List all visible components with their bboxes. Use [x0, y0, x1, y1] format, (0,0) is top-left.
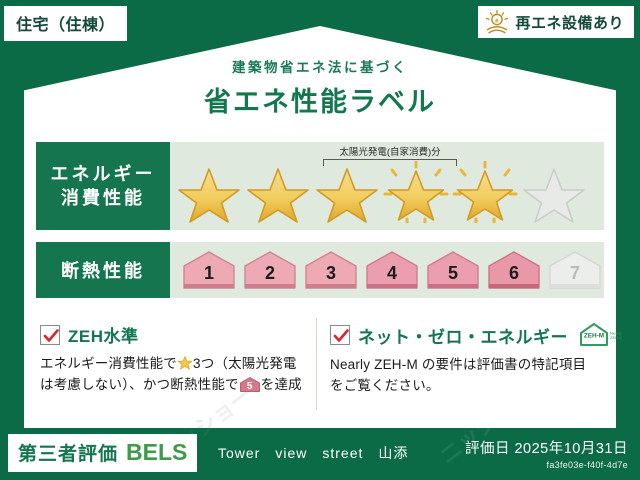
renewable-equipment-tag: e 再エネ設備あり — [478, 6, 634, 38]
energy-label-line2: 消費性能 — [61, 186, 145, 210]
red-check-icon — [330, 325, 350, 345]
criteria-zeh-standard: ZEH水準 エネルギー消費性能で3つ（太陽光発電は考慮しない）、かつ断熱性能で5… — [40, 322, 306, 396]
criteria-net-zero-energy: ネット・ゼロ・エネルギー ZEH-M Nearly ZEH-M Nearly Z… — [330, 322, 596, 397]
bels-en-label: BELS — [126, 439, 187, 466]
insulation-performance-row: 断熱性能 1 2 — [36, 242, 604, 298]
star-filled-solar — [452, 161, 518, 223]
star-icon — [177, 355, 193, 371]
insulation-badge-label: 7 — [546, 263, 604, 284]
criteria-description: Nearly ZEH-M の要件は評価書の特記項目をご覧ください。 — [330, 355, 596, 397]
star-rating — [170, 161, 587, 223]
renewable-label: 再エネ設備あり — [515, 12, 624, 33]
title-block: 建築物省エネ法に基づく 省エネ性能ラベル — [0, 56, 640, 119]
evaluation-info: 評価日 2025年10月31日 fa3fe03e-f40f-4d7e — [465, 437, 628, 470]
evaluation-date: 評価日 2025年10月31日 — [465, 437, 628, 458]
star-empty — [521, 161, 587, 223]
insulation-badge: 3 — [302, 249, 360, 291]
insulation-badge-inline: 5 — [239, 376, 261, 393]
bels-certification-badge: 第三者評価 BELS — [8, 434, 197, 472]
label-subtitle: 建築物省エネ法に基づく — [0, 56, 640, 76]
energy-performance-label: ニッショー ニッショー ニッショー ニッショー 住宅（住棟） e 再エ — [0, 0, 640, 480]
svg-text:ZEH-M: ZEH-M — [584, 332, 604, 339]
zeh-m-house-icon: ZEH-M Nearly ZEH-M — [578, 322, 622, 348]
energy-performance-row: エネルギー 消費性能 太陽光発電(自家消費)分 — [36, 142, 604, 230]
insulation-badge-label: 2 — [241, 263, 299, 284]
insulation-badge: 2 — [241, 249, 299, 291]
project-name: Tower view street 山添 — [218, 443, 408, 463]
insulation-badge: 5 — [424, 249, 482, 291]
criteria-divider — [316, 318, 317, 410]
star-filled — [245, 161, 311, 223]
criteria-title: ネット・ゼロ・エネルギー — [358, 323, 568, 348]
evaluation-id: fa3fe03e-f40f-4d7e — [465, 460, 628, 470]
insulation-badge: 1 — [180, 249, 238, 291]
insulation-badge-achieved: 6 — [485, 249, 543, 291]
svg-text:ZEH-M: ZEH-M — [610, 335, 622, 340]
insulation-badge-label: 4 — [363, 263, 421, 284]
energy-performance-body: 太陽光発電(自家消費)分 — [170, 142, 604, 230]
label-main-title: 省エネ性能ラベル — [0, 80, 640, 119]
star-filled — [314, 161, 380, 223]
energy-label-line1: エネルギー — [51, 162, 156, 186]
insulation-badge: 4 — [363, 249, 421, 291]
criteria-text-before: エネルギー消費性能で — [40, 356, 177, 371]
criteria-text-end: を達成 — [261, 377, 302, 392]
star-filled — [176, 161, 242, 223]
insulation-performance-label: 断熱性能 — [36, 242, 170, 298]
red-check-icon — [40, 325, 60, 345]
insulation-badge-label: 1 — [180, 263, 238, 284]
criteria-description: エネルギー消費性能で3つ（太陽光発電は考慮しない）、かつ断熱性能で5を達成 — [40, 354, 306, 396]
sun-solar-icon: e — [484, 9, 510, 35]
building-type-tag: 住宅（住棟） — [4, 6, 127, 41]
criteria-title: ZEH水準 — [68, 322, 139, 347]
energy-performance-label: エネルギー 消費性能 — [36, 142, 170, 230]
building-type-label: 住宅（住棟） — [16, 11, 115, 35]
criteria-header: ネット・ゼロ・エネルギー ZEH-M Nearly ZEH-M — [330, 322, 596, 348]
bels-jp-label: 第三者評価 — [18, 439, 118, 466]
insulation-badge-label: 6 — [485, 263, 543, 284]
star-filled-solar — [383, 161, 449, 223]
insulation-badge-label: 5 — [424, 263, 482, 284]
insulation-level-badges: 1 2 3 — [170, 249, 604, 291]
solar-annotation-text: 太陽光発電(自家消費)分 — [314, 144, 466, 158]
insulation-badge-label: 3 — [302, 263, 360, 284]
svg-text:e: e — [496, 18, 500, 24]
criteria-header: ZEH水準 — [40, 322, 306, 347]
insulation-badge-inactive: 7 — [546, 249, 604, 291]
insulation-performance-body: 1 2 3 — [170, 242, 604, 298]
inline-badge-value: 5 — [239, 379, 261, 395]
